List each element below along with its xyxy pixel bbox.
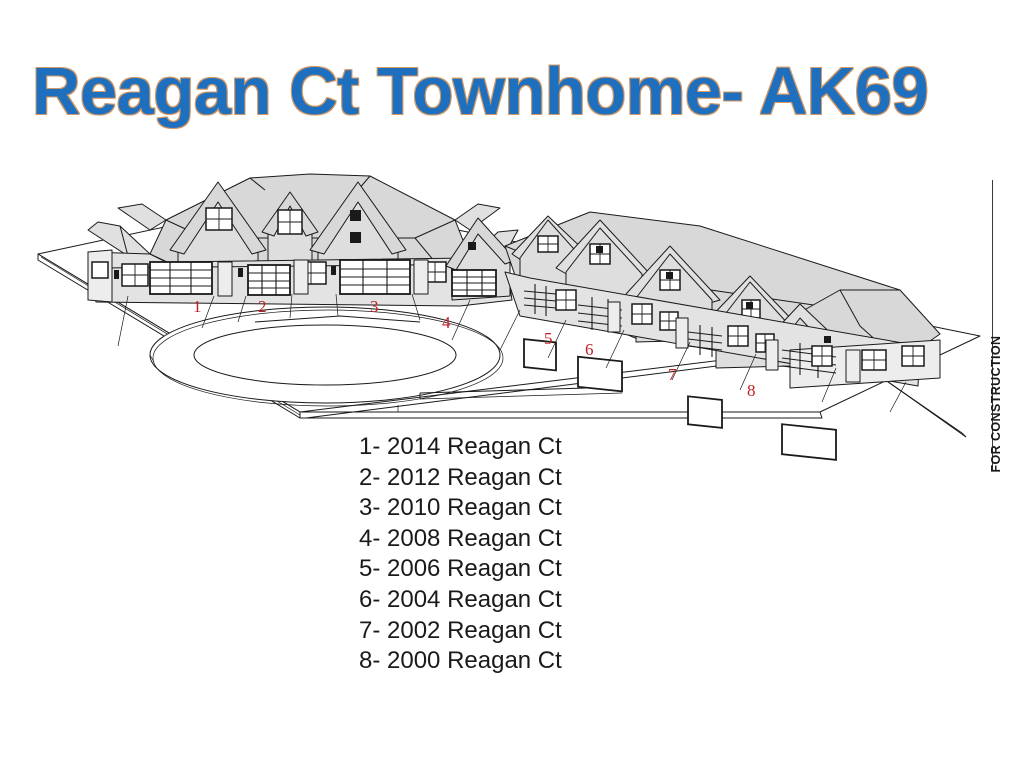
page-title: Reagan Ct Townhome- AK69	[32, 58, 1012, 125]
unit-number-2: 2	[258, 298, 267, 315]
for-construction-label: FOR CONSTRUCTION	[989, 329, 1003, 479]
unit-address-legend: 1- 2014 Reagan Ct 2- 2012 Reagan Ct 3- 2…	[359, 432, 562, 677]
site-plan-svg: .ln { fill:none; stroke:#1a1a1a; stroke-…	[0, 150, 1024, 470]
unit-number-7: 7	[668, 366, 677, 383]
unit-number-3: 3	[370, 298, 379, 315]
legend-row-3: 3- 2010 Reagan Ct	[359, 493, 562, 524]
legend-row-6: 6- 2004 Reagan Ct	[359, 585, 562, 616]
legend-row-1: 1- 2014 Reagan Ct	[359, 432, 562, 463]
legend-row-8: 8- 2000 Reagan Ct	[359, 646, 562, 677]
unit-number-5: 5	[544, 330, 553, 347]
unit-number-1: 1	[193, 298, 202, 315]
legend-row-2: 2- 2012 Reagan Ct	[359, 463, 562, 494]
unit-number-6: 6	[585, 341, 594, 358]
for-construction-stamp: FOR CONSTRUCTION	[985, 335, 1003, 475]
legend-row-5: 5- 2006 Reagan Ct	[359, 554, 562, 585]
unit-number-8: 8	[747, 382, 756, 399]
unit-number-4: 4	[442, 314, 451, 331]
legend-row-7: 7- 2002 Reagan Ct	[359, 616, 562, 647]
legend-row-4: 4- 2008 Reagan Ct	[359, 524, 562, 555]
site-plan-drawing: .ln { fill:none; stroke:#1a1a1a; stroke-…	[0, 150, 1024, 470]
